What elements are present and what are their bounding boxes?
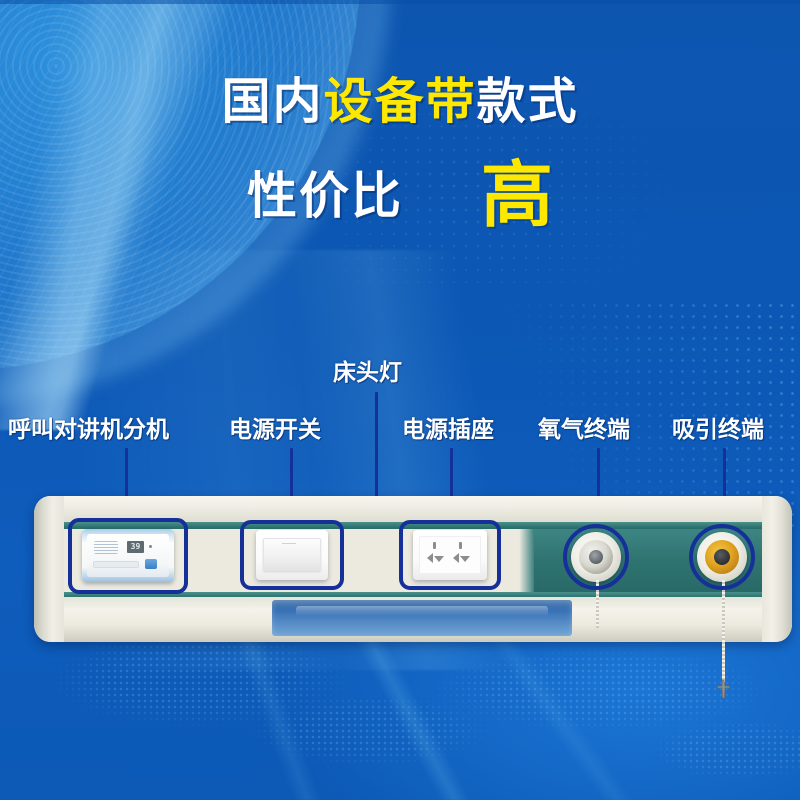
promo-banner: 国内设备带款式 性价比 高 呼叫对讲机分机 电源开关 床头灯 电源插座 氧气终端… <box>0 0 800 800</box>
bed-lamp-diffuser[interactable] <box>272 600 572 636</box>
highlight-box-intercom <box>68 518 188 594</box>
callout-label-intercom: 呼叫对讲机分机 <box>8 418 169 441</box>
suction-pull-cord <box>722 580 725 690</box>
highlight-circle-suction <box>689 524 755 590</box>
panel-end-cap-right <box>762 496 792 642</box>
panel-end-cap-left <box>34 496 64 642</box>
callout-label-suction: 吸引终端 <box>672 418 764 441</box>
callout-label-oxygen: 氧气终端 <box>538 418 630 441</box>
halftone-dots-upper <box>340 60 680 290</box>
highlight-circle-oxygen <box>563 524 629 590</box>
callout-label-power-socket: 电源插座 <box>402 418 494 441</box>
world-map-dots <box>40 620 800 800</box>
highlight-box-power-switch <box>240 520 344 590</box>
highlight-box-power-socket <box>399 520 501 590</box>
pull-cord-weight-icon <box>711 678 735 702</box>
callout-label-bed-lamp: 床头灯 <box>333 361 402 384</box>
top-edge-line <box>0 0 800 4</box>
callout-label-power-switch: 电源开关 <box>229 418 321 441</box>
